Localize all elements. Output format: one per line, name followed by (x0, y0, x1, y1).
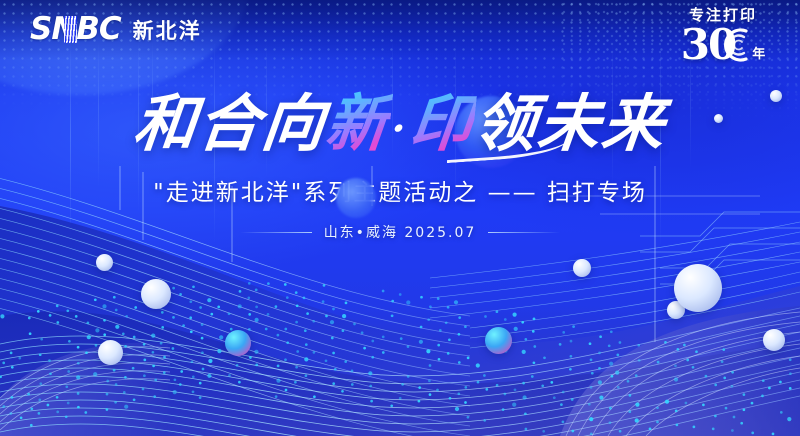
sphere-right-top (573, 259, 591, 277)
poster-banner: SNBC 新北洋 专注打印 30 年 和合向新·印领未来 "走进新 (0, 0, 800, 436)
meta-rule-left (240, 232, 312, 233)
anniversary-arc-icon (720, 28, 754, 62)
anniversary-unit: 年 (752, 43, 765, 62)
hero-title-block: 和合向新·印领未来 "走进新北洋"系列主题活动之 —— 扫打专场 山东•威海 2… (0, 92, 800, 242)
subtitle: "走进新北洋"系列主题活动之 —— 扫打专场 (0, 173, 800, 207)
sphere-right-big (674, 264, 722, 312)
anniversary-number-group: 30 年 (668, 24, 778, 66)
title-segment-1: 新 (322, 87, 394, 160)
location-date: 山东•威海 2025.07 (324, 222, 477, 242)
glow-circle-small (336, 178, 376, 218)
sphere-left-big (141, 279, 171, 309)
sphere-pink-mid (485, 327, 512, 354)
brand-chinese-name: 新北洋 (133, 15, 202, 45)
title-segment-0: 和合向 (130, 87, 330, 160)
sphere-pink-left (225, 330, 251, 356)
sphere-left-small (96, 254, 113, 271)
meta-row: 山东•威海 2025.07 (0, 222, 800, 242)
meta-rule-right (488, 232, 560, 233)
sphere-far-right (763, 329, 785, 351)
anniversary-badge: 专注打印 30 年 (668, 8, 778, 66)
main-title: 和合向新·印领未来 (131, 92, 670, 155)
snbc-wordmark-icon: SNBC (30, 14, 121, 45)
banner-header: SNBC 新北洋 专注打印 30 年 (0, 0, 800, 62)
sphere-mid-low (98, 340, 123, 365)
snbc-wordmark-text: SNBC (30, 11, 121, 47)
brand-logo[interactable]: SNBC 新北洋 (30, 14, 202, 45)
